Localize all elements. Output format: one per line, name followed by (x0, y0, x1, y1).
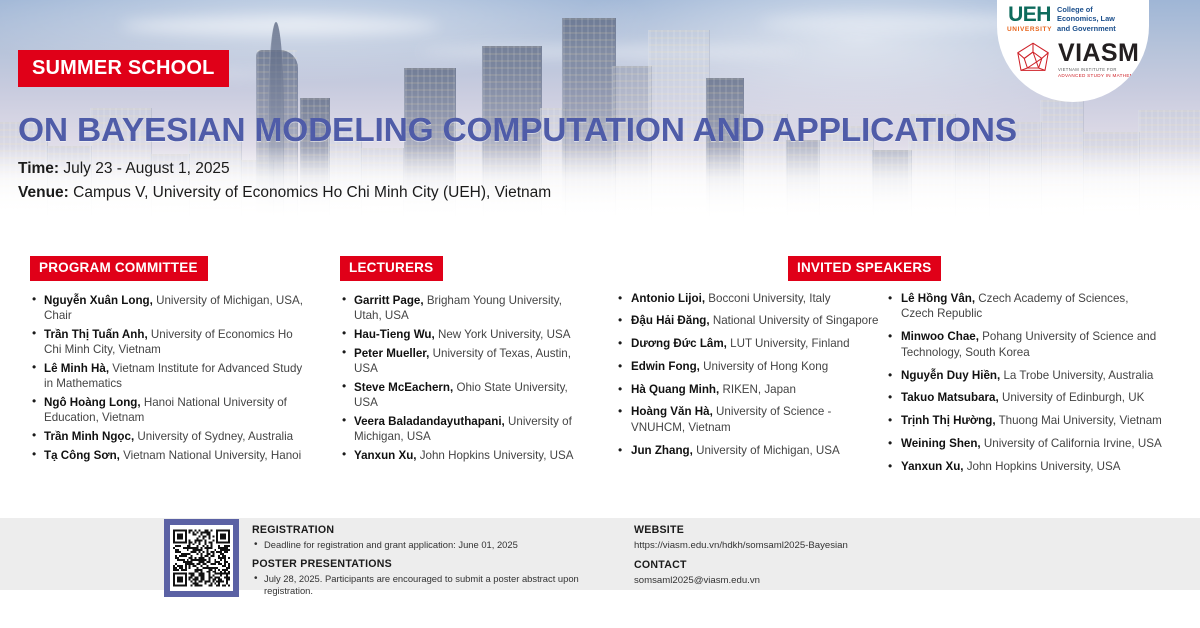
person-affiliation: La Trobe University, Australia (1000, 369, 1153, 382)
invited-speaker-item: Đậu Hải Đăng, National University of Sin… (615, 313, 885, 329)
person-name: Jun Zhang, (631, 444, 693, 457)
footer-contact-block: WEBSITE https://viasm.edu.vn/hdkh/somsam… (634, 524, 1034, 595)
invited-speaker-item: Edwin Fong, University of Hong Kong (615, 359, 885, 375)
contact-heading: CONTACT (634, 559, 1034, 571)
person-name: Trần Thị Tuấn Anh, (44, 328, 148, 341)
invited-speaker-item: Minwoo Chae, Pohang University of Scienc… (885, 329, 1163, 361)
person-affiliation: University of Sydney, Australia (134, 430, 293, 443)
person-affiliation: RIKEN, Japan (719, 383, 796, 396)
venue-value: Campus V, University of Economics Ho Chi… (69, 184, 551, 201)
program-committee-section: PROGRAM COMMITTEE Nguyễn Xuân Long, Univ… (30, 256, 308, 467)
registration-deadline: Deadline for registration and grant appl… (252, 539, 622, 552)
lecturers-section: LECTURERS Garritt Page, Brigham Young Un… (340, 256, 590, 467)
page-title: ON BAYESIAN MODELING COMPUTATION AND APP… (18, 112, 1017, 150)
lecturer-item: Hau-Tieng Wu, New York University, USA (340, 327, 590, 342)
person-name: Yanxun Xu, (901, 460, 964, 473)
event-venue-line: Venue: Campus V, University of Economics… (18, 181, 551, 205)
person-affiliation: Thuong Mai University, Vietnam (996, 414, 1162, 427)
summer-school-badge: SUMMER SCHOOL (18, 50, 229, 87)
person-name: Peter Mueller, (354, 347, 429, 360)
person-affiliation: John Hopkins University, USA (964, 460, 1121, 473)
registration-qr-code[interactable] (164, 519, 239, 597)
lecturer-item: Yanxun Xu, John Hopkins University, USA (340, 448, 590, 463)
person-affiliation: University of Edinburgh, UK (999, 391, 1145, 404)
program-committee-heading: PROGRAM COMMITTEE (30, 256, 208, 281)
person-affiliation: University of California Irvine, USA (981, 437, 1162, 450)
time-label: Time: (18, 160, 59, 177)
invited-speakers-section: INVITED SPEAKERS Antonio Lijoi, Bocconi … (615, 256, 1175, 481)
invited-speakers-list-left: Antonio Lijoi, Bocconi University, Italy… (615, 291, 885, 482)
person-name: Weining Shen, (901, 437, 981, 450)
person-name: Trần Minh Ngọc, (44, 430, 134, 443)
person-name: Nguyễn Duy Hiền, (901, 369, 1000, 382)
venue-label: Venue: (18, 184, 69, 201)
person-affiliation: John Hopkins University, USA (417, 449, 574, 462)
invited-speaker-item: Antonio Lijoi, Bocconi University, Italy (615, 291, 885, 307)
person-affiliation: University of Michigan, USA (693, 444, 840, 457)
person-affiliation: Bocconi University, Italy (705, 292, 830, 305)
conference-poster: UEH UNIVERSITY College of Economics, Law… (0, 0, 1200, 628)
viasm-wordmark: VIASM (1058, 42, 1149, 66)
viasm-polyhedron-icon (1013, 40, 1053, 80)
lecturer-item: Peter Mueller, University of Texas, Aust… (340, 346, 590, 376)
program-committee-list: Nguyễn Xuân Long, University of Michigan… (30, 293, 308, 464)
person-name: Takuo Matsubara, (901, 391, 999, 404)
viasm-logo: VIASM VIETNAM INSTITUTE FOR ADVANCED STU… (1013, 40, 1149, 80)
event-meta: Time: July 23 - August 1, 2025 Venue: Ca… (18, 157, 551, 205)
ueh-wordmark: UEH (1008, 4, 1051, 25)
program-committee-item: Trần Minh Ngọc, University of Sydney, Au… (30, 429, 308, 444)
invited-speaker-item: Lê Hồng Vân, Czech Academy of Sciences, … (885, 291, 1163, 323)
person-name: Hà Quang Minh, (631, 383, 719, 396)
invited-speaker-item: Jun Zhang, University of Michigan, USA (615, 443, 885, 459)
person-name: Antonio Lijoi, (631, 292, 705, 305)
person-name: Edwin Fong, (631, 360, 700, 373)
person-name: Minwoo Chae, (901, 330, 979, 343)
poster-heading: POSTER PRESENTATIONS (252, 558, 622, 570)
person-name: Dương Đức Lâm, (631, 337, 727, 350)
lecturer-item: Garritt Page, Brigham Young University, … (340, 293, 590, 323)
qr-inner-frame (170, 525, 233, 591)
poster-deadline: July 28, 2025. Participants are encourag… (252, 573, 622, 598)
program-committee-item: Trần Thị Tuấn Anh, University of Economi… (30, 327, 308, 357)
lecturers-list: Garritt Page, Brigham Young University, … (340, 293, 590, 464)
invited-speakers-heading-row: INVITED SPEAKERS (615, 256, 1175, 281)
person-name: Veera Baladandayuthapani, (354, 415, 505, 428)
ueh-logo: UEH UNIVERSITY College of Economics, Law… (1007, 4, 1129, 33)
program-committee-item: Tạ Công Sơn, Vietnam National University… (30, 448, 308, 463)
invited-speaker-item: Dương Đức Lâm, LUT University, Finland (615, 336, 885, 352)
person-affiliation: National University of Singapore (710, 314, 879, 327)
person-name: Tạ Công Sơn, (44, 449, 120, 462)
person-name: Trịnh Thị Hường, (901, 414, 996, 427)
time-value: July 23 - August 1, 2025 (59, 160, 230, 177)
lecturers-heading: LECTURERS (340, 256, 443, 281)
event-time-line: Time: July 23 - August 1, 2025 (18, 157, 551, 181)
qr-code-icon (173, 528, 230, 588)
invited-speakers-list-right: Lê Hồng Vân, Czech Academy of Sciences, … (885, 291, 1163, 482)
program-committee-item: Lê Minh Hà, Vietnam Institute for Advanc… (30, 361, 308, 391)
invited-speakers-heading: INVITED SPEAKERS (788, 256, 941, 281)
person-name: Hoàng Văn Hà, (631, 405, 713, 418)
person-affiliation: New York University, USA (435, 328, 571, 341)
person-name: Yanxun Xu, (354, 449, 417, 462)
ueh-college-label: College of Economics, Law and Government (1057, 4, 1129, 33)
viasm-tagline-2: ADVANCED STUDY IN MATHEMATICS (1058, 73, 1149, 78)
website-heading: WEBSITE (634, 524, 1034, 536)
person-affiliation: University of Hong Kong (700, 360, 828, 373)
invited-speaker-item: Yanxun Xu, John Hopkins University, USA (885, 459, 1163, 475)
person-name: Đậu Hải Đăng, (631, 314, 710, 327)
person-name: Steve McEachern, (354, 381, 453, 394)
registration-heading: REGISTRATION (252, 524, 622, 536)
lecturer-item: Steve McEachern, Ohio State University, … (340, 380, 590, 410)
person-name: Hau-Tieng Wu, (354, 328, 435, 341)
footer-registration-block: REGISTRATION Deadline for registration a… (252, 524, 622, 604)
lecturer-item: Veera Baladandayuthapani, University of … (340, 414, 590, 444)
person-affiliation: Vietnam National University, Hanoi (120, 449, 301, 462)
contact-email[interactable]: somsaml2025@viasm.edu.vn (634, 574, 1034, 587)
program-committee-item: Nguyễn Xuân Long, University of Michigan… (30, 293, 308, 323)
person-name: Nguyễn Xuân Long, (44, 294, 153, 307)
invited-speaker-item: Trịnh Thị Hường, Thuong Mai University, … (885, 413, 1163, 429)
person-name: Lê Minh Hà, (44, 362, 109, 375)
website-url[interactable]: https://viasm.edu.vn/hdkh/somsaml2025-Ba… (634, 539, 1034, 552)
viasm-tagline-1: VIETNAM INSTITUTE FOR (1058, 67, 1149, 72)
person-name: Garritt Page, (354, 294, 424, 307)
person-name: Ngô Hoàng Long, (44, 396, 141, 409)
program-committee-item: Ngô Hoàng Long, Hanoi National Universit… (30, 395, 308, 425)
person-name: Lê Hồng Vân, (901, 292, 975, 305)
invited-speakers-columns: Antonio Lijoi, Bocconi University, Italy… (615, 291, 1175, 482)
invited-speaker-item: Weining Shen, University of California I… (885, 436, 1163, 452)
invited-speaker-item: Takuo Matsubara, University of Edinburgh… (885, 390, 1163, 406)
invited-speaker-item: Nguyễn Duy Hiền, La Trobe University, Au… (885, 368, 1163, 384)
ueh-subtitle: UNIVERSITY (1007, 26, 1052, 33)
person-affiliation: LUT University, Finland (727, 337, 850, 350)
invited-speaker-item: Hà Quang Minh, RIKEN, Japan (615, 382, 885, 398)
invited-speaker-item: Hoàng Văn Hà, University of Science - VN… (615, 404, 885, 436)
